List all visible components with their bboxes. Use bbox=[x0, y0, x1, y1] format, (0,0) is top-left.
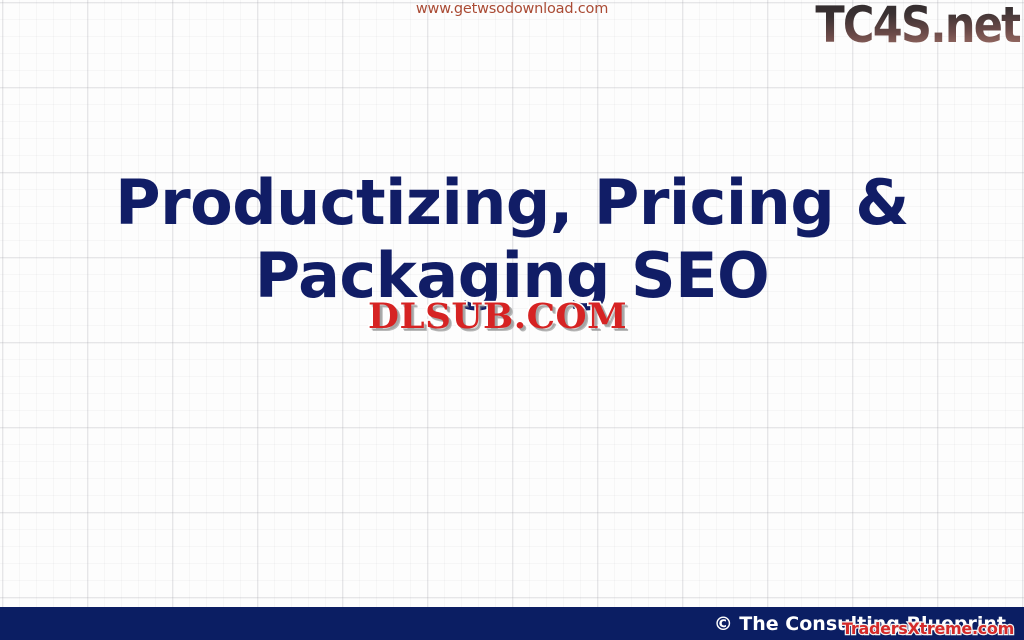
presentation-slide: www.getwsodownload.com TC4S.net TC4S.net… bbox=[0, 0, 1024, 640]
slide-title: Productizing, Pricing & Packaging SEO bbox=[0, 166, 1024, 312]
slide-title-line-1: Productizing, Pricing & bbox=[0, 166, 1024, 239]
dlsub-watermark: DLSUB.COM bbox=[368, 297, 627, 337]
footer-bar: © The Consulting Blueprint TradersXtreme… bbox=[0, 607, 1024, 640]
tradersxtreme-watermark: TradersXtreme.com bbox=[842, 619, 1014, 638]
brand-logo-tc4s: TC4S.net bbox=[815, 0, 1020, 54]
